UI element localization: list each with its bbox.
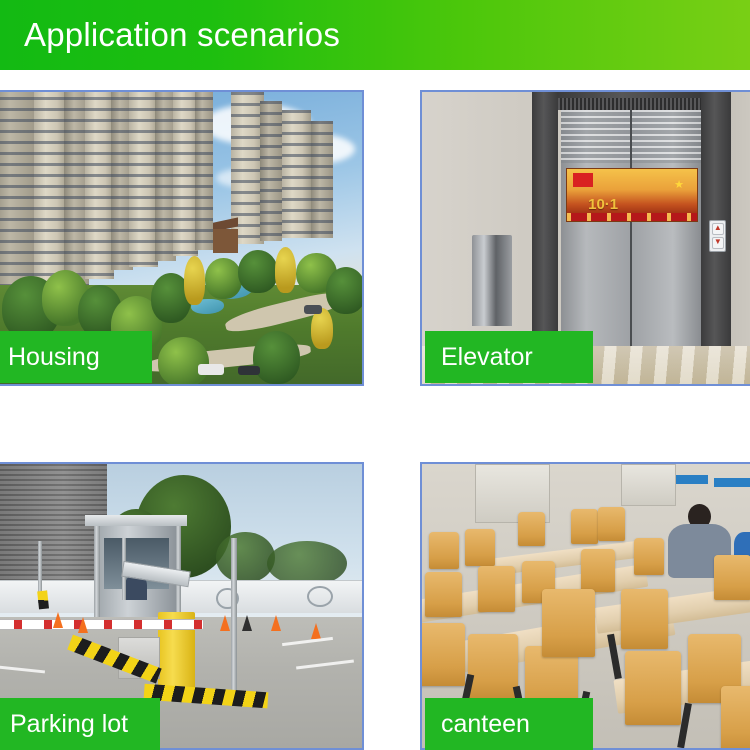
canteen-chair <box>714 555 750 600</box>
canteen-chair <box>634 538 664 575</box>
canteen-chair <box>518 512 545 546</box>
housing-tree <box>205 258 241 299</box>
scenario-label-text: Housing <box>8 345 100 370</box>
traffic-cone <box>53 612 63 628</box>
housing-tree <box>184 256 206 306</box>
canteen-wall-stripe <box>714 478 750 487</box>
canteen-chair <box>478 566 515 611</box>
ad-headline-graphic: 10·1 <box>588 197 618 212</box>
canteen-chair <box>429 532 459 569</box>
scenario-label-housing: Housing <box>0 331 152 383</box>
housing-car <box>198 364 223 376</box>
china-flag-icon <box>573 173 594 187</box>
housing-tree <box>311 308 333 349</box>
elevator-ad-display: ★ 10·1 <box>566 168 697 223</box>
scenario-label-canteen: canteen <box>425 698 593 750</box>
housing-tree <box>326 267 362 314</box>
canteen-chair <box>465 529 495 566</box>
housing-tower <box>195 92 213 250</box>
housing-tower <box>0 92 38 302</box>
scenario-label-text: Elevator <box>441 345 533 370</box>
traffic-cone <box>271 615 281 631</box>
scenario-label-elevator: Elevator <box>425 331 593 383</box>
canteen-chair <box>625 651 681 725</box>
housing-tower <box>282 110 311 238</box>
elevator-trash-bin <box>472 235 512 326</box>
housing-tree <box>158 337 209 384</box>
elevator-down-button[interactable]: ▼ <box>712 237 724 249</box>
canteen-chair <box>571 509 598 543</box>
star-icon: ★ <box>674 180 684 191</box>
housing-roof <box>213 229 238 252</box>
elevator-door-frame <box>532 92 559 355</box>
page-header-banner: Application scenarios <box>0 0 750 70</box>
canteen-chair <box>598 507 625 541</box>
housing-tree <box>238 250 278 294</box>
canteen-chair <box>721 686 750 748</box>
traffic-cone <box>220 615 230 631</box>
housing-tower <box>260 101 282 241</box>
housing-tower <box>311 121 333 238</box>
canteen-chair <box>542 589 595 657</box>
housing-tree <box>275 247 297 294</box>
canteen-chair <box>581 549 614 592</box>
parking-tree <box>216 532 274 583</box>
housing-car <box>304 305 322 314</box>
scenario-label-text: canteen <box>441 712 530 737</box>
housing-car <box>238 366 260 375</box>
canteen-chair <box>621 589 667 649</box>
parking-tree <box>267 541 347 586</box>
guard-booth-roof <box>85 515 187 526</box>
application-scenarios-page: Application scenarios <box>0 0 750 750</box>
scenario-label-text: Parking lot <box>10 712 128 737</box>
elevator-door-split-line <box>630 110 632 355</box>
housing-tree <box>253 331 300 384</box>
boom-barrier-arm <box>0 619 204 630</box>
housing-tower <box>34 92 67 291</box>
canteen-chair <box>425 572 462 617</box>
traffic-cone <box>311 623 321 639</box>
elevator-call-panel[interactable]: ▲ ▼ <box>709 220 726 251</box>
ad-bottom-strip <box>567 213 696 221</box>
elevator-up-button[interactable]: ▲ <box>712 223 724 235</box>
scenario-label-parking-lot: Parking lot <box>0 698 160 750</box>
canteen-window <box>621 464 676 506</box>
canteen-chair <box>468 634 518 699</box>
light-pole <box>231 538 237 703</box>
page-title: Application scenarios <box>24 13 340 57</box>
traffic-cone <box>242 615 252 631</box>
canteen-chair <box>422 623 465 685</box>
elevator-header-beam <box>558 92 701 98</box>
traffic-cone <box>78 617 88 633</box>
